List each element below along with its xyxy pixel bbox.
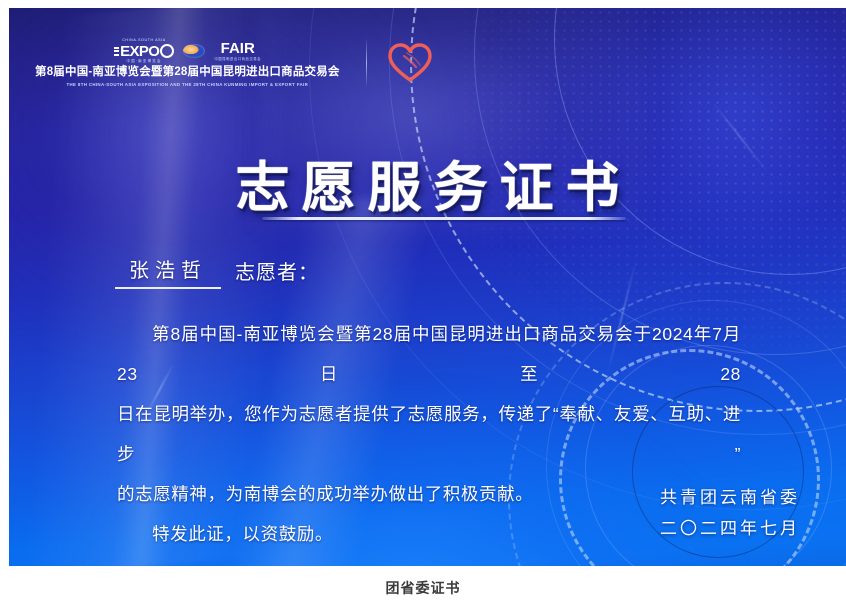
- image-caption: 团省委证书: [0, 578, 846, 598]
- title-underline-rule: [262, 217, 626, 220]
- recipient-role-label: 志愿者：: [235, 256, 319, 289]
- event-logo-strip: CHINA-SOUTH ASIA EXPO 中国·南亚博览会 FAIR 中国昆明…: [35, 38, 433, 88]
- expo-logo-text: EXPO: [120, 44, 159, 59]
- certificate-title: 志愿服务证书: [9, 143, 846, 222]
- logo-divider: [366, 38, 367, 88]
- event-logo-block: CHINA-SOUTH ASIA EXPO 中国·南亚博览会 FAIR 中国昆明…: [35, 39, 340, 87]
- body-line-2: 日在昆明举办，您作为志愿者提供了志愿服务，传递了“奉献、友爱、互助、进步”: [117, 394, 741, 474]
- handshake-icon: [183, 44, 205, 58]
- certificate-body: 第8届中国-南亚博览会暨第28届中国昆明进出口商品交易会于2024年7月23日至…: [117, 314, 741, 554]
- expo-logo-toptext: CHINA-SOUTH ASIA: [122, 39, 166, 43]
- body-line-1: 第8届中国-南亚博览会暨第28届中国昆明进出口商品交易会于2024年7月23日至…: [117, 314, 741, 394]
- event-title-chinese: 第8届中国-南亚博览会暨第28届中国昆明进出口商品交易会: [35, 66, 340, 79]
- expo-logo-subtext: 中国·南亚博览会: [126, 60, 161, 64]
- page-root: CHINA-SOUTH ASIA EXPO 中国·南亚博览会 FAIR 中国昆明…: [0, 0, 846, 606]
- body-line-3: 的志愿精神，为南博会的成功举办做出了积极贡献。: [117, 474, 741, 514]
- signature-date: 二〇二四年七月: [660, 513, 800, 544]
- recipient-name: 张浩哲: [115, 254, 221, 289]
- signature-issuer: 共青团云南省委: [660, 482, 800, 513]
- expo-logo-bars: [114, 47, 119, 56]
- event-title-english: THE 8TH CHINA-SOUTH ASIA EXPOSITION AND …: [67, 82, 309, 87]
- fair-logo-icon: FAIR 中国昆明进出口商品交易会: [214, 41, 261, 61]
- event-logo-marks: CHINA-SOUTH ASIA EXPO 中国·南亚博览会 FAIR 中国昆明…: [114, 39, 261, 63]
- fair-logo-text: FAIR: [221, 41, 255, 56]
- signature-block: 共青团云南省委 二〇二四年七月: [660, 482, 800, 544]
- heart-icon: [387, 42, 433, 84]
- body-line-4: 特发此证，以资鼓励。: [117, 514, 741, 554]
- certificate-image: CHINA-SOUTH ASIA EXPO 中国·南亚博览会 FAIR 中国昆明…: [9, 8, 846, 566]
- expo-logo-icon: CHINA-SOUTH ASIA EXPO 中国·南亚博览会: [114, 39, 175, 63]
- globe-icon: [160, 44, 174, 58]
- fair-logo-subtext: 中国昆明进出口商品交易会: [214, 58, 261, 61]
- expo-logo-wordmark: EXPO: [114, 44, 175, 59]
- recipient-line: 张浩哲 志愿者：: [115, 254, 319, 289]
